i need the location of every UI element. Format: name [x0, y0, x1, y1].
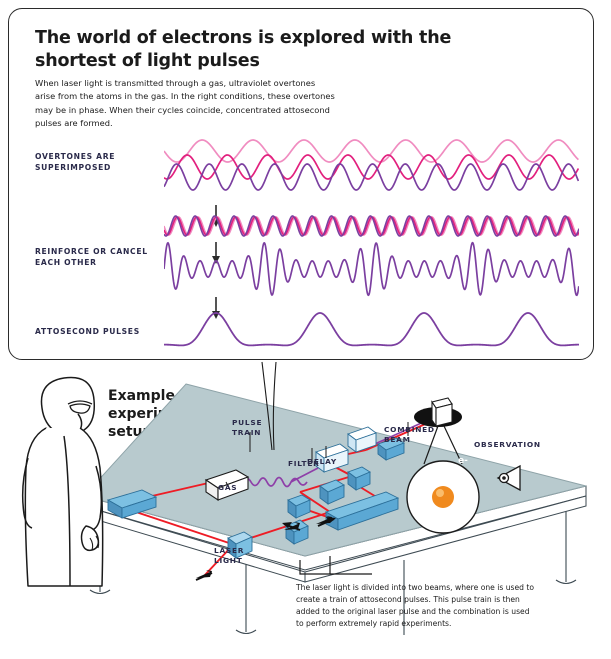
- label-gas: GAS: [218, 483, 252, 493]
- label-laser-light: LASER LIGHT: [214, 546, 276, 566]
- page-title: The world of electrons is explored with …: [35, 27, 455, 73]
- setup-caption: The laser light is divided into two beam…: [296, 582, 536, 631]
- label-observation: OBSERVATION: [474, 440, 544, 450]
- stage-label-overtones: OVERTONES ARE SUPERIMPOSED: [35, 152, 155, 174]
- electron-symbol: e-: [450, 456, 476, 466]
- intro-paragraph: When laser light is transmitted through …: [35, 77, 335, 131]
- label-delay: DELAY: [307, 457, 347, 467]
- experimental-setup-panel: Example of an experimental setup: [0, 360, 611, 659]
- wave-explanation-panel: The world of electrons is explored with …: [8, 8, 594, 360]
- scientist-figure: [12, 374, 120, 589]
- label-combined-beam: COMBINED BEAM: [384, 425, 446, 445]
- label-pulse-train: PULSE TRAIN: [232, 418, 278, 438]
- stage-label-attosecond: ATTOSECOND PULSES: [35, 327, 165, 338]
- stage-label-reinforce: REINFORCE OR CANCEL EACH OTHER: [35, 247, 165, 269]
- interference-wave-stage3: [164, 237, 579, 301]
- overtone-waves-stage1: [164, 137, 579, 199]
- attosecond-pulse-train-stage4: [164, 305, 579, 353]
